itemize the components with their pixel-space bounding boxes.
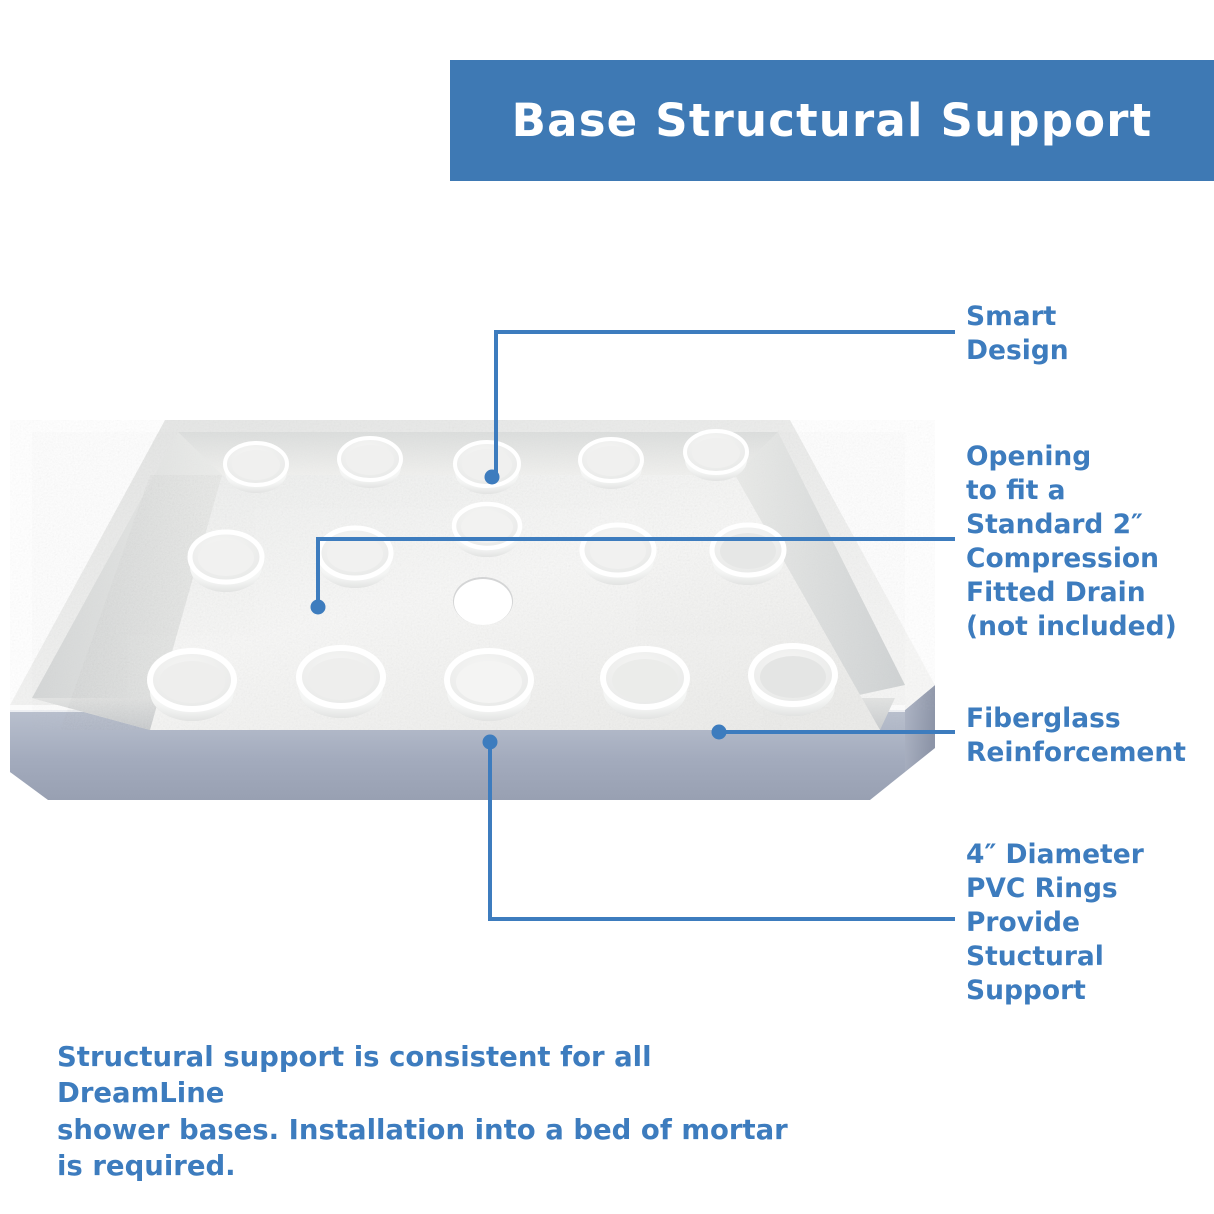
callout-drain-opening: Opening to fit a Standard 2″ Compression… [966, 440, 1177, 644]
callout-line: Fiberglass [966, 703, 1121, 734]
title-banner: Base Structural Support [450, 60, 1214, 181]
callout-line: Fitted Drain [966, 577, 1146, 608]
footer-caption: Structural support is consistent for all… [57, 1039, 817, 1184]
callout-line: (not included) [966, 611, 1177, 642]
pvc-ring [582, 525, 654, 585]
infographic-page: Base Structural Support [0, 0, 1214, 1214]
callout-line: Smart [966, 301, 1056, 332]
callout-line: to fit a [966, 475, 1066, 506]
pvc-ring [751, 646, 835, 716]
pvc-ring [150, 651, 234, 721]
pvc-ring [225, 443, 287, 493]
drain-opening [453, 577, 513, 625]
pvc-ring [454, 504, 520, 557]
pvc-ring [685, 431, 747, 481]
shower-base-illustration [0, 380, 960, 850]
callout-line: Compression [966, 543, 1159, 574]
pvc-ring [712, 525, 784, 585]
caption-line: Structural support is consistent for all… [57, 1039, 817, 1112]
callout-fiberglass: Fiberglass Reinforcement [966, 702, 1186, 770]
callout-line: Standard 2″ [966, 509, 1143, 540]
callout-line: Support [966, 975, 1086, 1006]
pvc-ring [580, 439, 642, 489]
pvc-ring [339, 438, 401, 488]
callout-line: Opening [966, 441, 1091, 472]
callout-pvc-rings: 4″ Diameter PVC Rings Provide Stuctural … [966, 838, 1144, 1008]
caption-line: is required. [57, 1148, 817, 1184]
pvc-ring-center-top [454, 504, 520, 557]
pvc-ring [319, 528, 391, 588]
pvc-ring [190, 532, 262, 592]
pvc-ring [455, 442, 519, 494]
callout-line: Design [966, 335, 1069, 366]
callout-line: 4″ Diameter [966, 839, 1144, 870]
pvc-ring [603, 649, 687, 719]
callout-line: Stuctural [966, 941, 1104, 972]
page-title: Base Structural Support [512, 94, 1153, 147]
pvc-ring [447, 651, 531, 721]
callout-line: PVC Rings [966, 873, 1118, 904]
caption-line: shower bases. Installation into a bed of… [57, 1112, 817, 1148]
callout-line: Provide [966, 907, 1080, 938]
callout-smart-design: Smart Design [966, 300, 1069, 368]
callout-line: Reinforcement [966, 737, 1186, 768]
pvc-ring [299, 648, 383, 718]
